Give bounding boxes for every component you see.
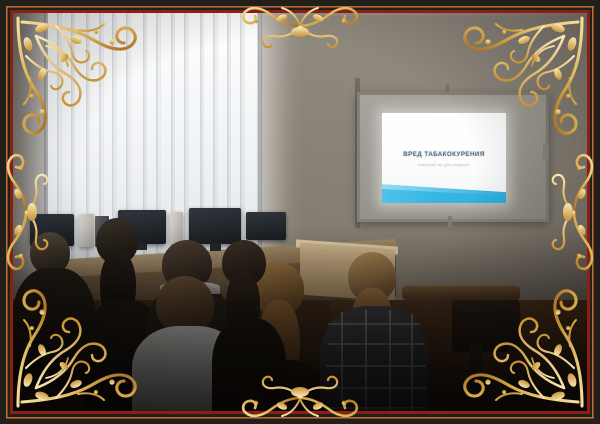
photo-vignette — [0, 0, 600, 424]
decorated-photo-frame: ВРЕД ТАБАКОКУРЕНИЯ классный час для учащ… — [0, 0, 600, 424]
classroom-photograph: ВРЕД ТАБАКОКУРЕНИЯ классный час для учащ… — [0, 0, 600, 424]
